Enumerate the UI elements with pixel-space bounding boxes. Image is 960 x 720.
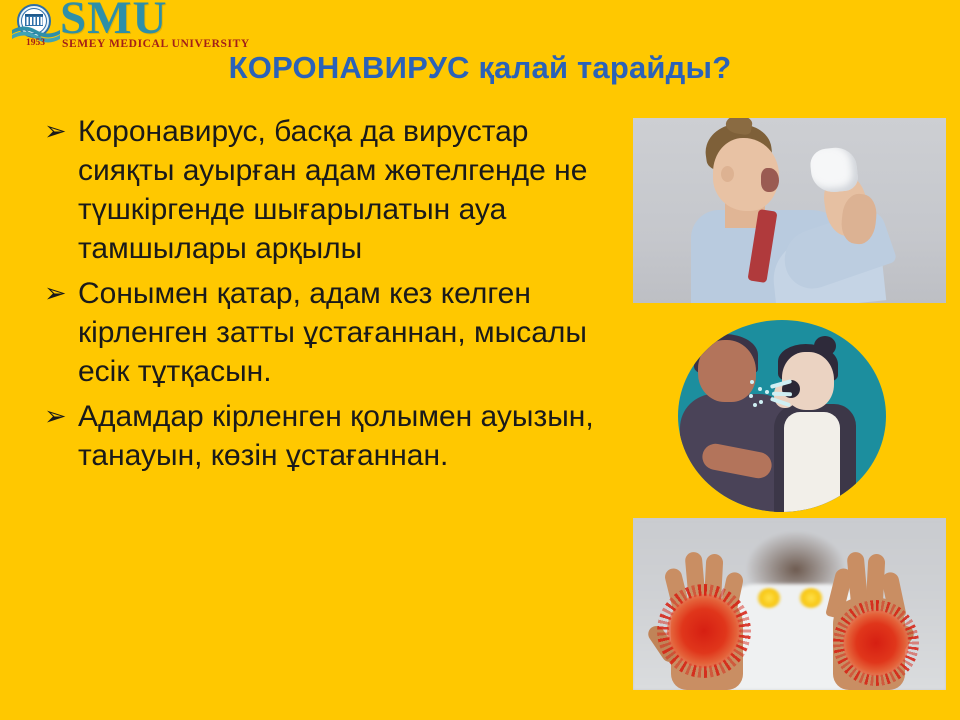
contaminated-hands-photo [633,518,946,690]
bullet-face-touching-text: Адамдар кірленген қолымен ауызын, танауы… [78,397,623,475]
list-item: ➢ Адамдар кірленген қолымен ауызын, тана… [38,397,623,475]
glowing-eye-icon [757,588,781,608]
right-hand-shape [817,540,921,690]
droplet-spray-icon [748,376,794,410]
bullet-arrow-icon: ➢ [44,397,67,436]
ear-shape [721,166,734,182]
person-b-apron [784,412,840,512]
bullet-arrow-icon: ➢ [44,274,67,313]
university-logo: SMU 1953 SEMEY MEDICAL UNIVERSITY [4,1,334,51]
virus-particle-icon [843,610,909,676]
left-hand-shape [655,540,759,690]
list-item: ➢ Коронавирус, басқа да вирустар сияқты … [38,112,623,268]
bullet-list: ➢ Коронавирус, басқа да вирустар сияқты … [38,112,623,481]
droplet-spread-illustration [678,320,886,512]
logo-year: 1953 [26,38,45,48]
page-title: КОРОНАВИРУС қалай тарайды? [0,50,960,86]
logo-full-name: SEMEY MEDICAL UNIVERSITY [62,38,250,50]
logo-acronym: SMU [60,0,167,42]
open-mouth-shape [761,168,779,192]
slide: SMU 1953 SEMEY MEDICAL UNIVERSITY КОРОНА… [0,0,960,720]
list-item: ➢ Сонымен қатар, адам кез келген кірленг… [38,274,623,391]
bullet-droplets-text: Коронавирус, басқа да вирустар сияқты ау… [78,112,623,268]
bullet-contaminated-objects-text: Сонымен қатар, адам кез келген кірленген… [78,274,623,391]
sneezing-man-photo [633,118,946,303]
virus-particle-icon [667,594,741,668]
bullet-arrow-icon: ➢ [44,112,67,151]
